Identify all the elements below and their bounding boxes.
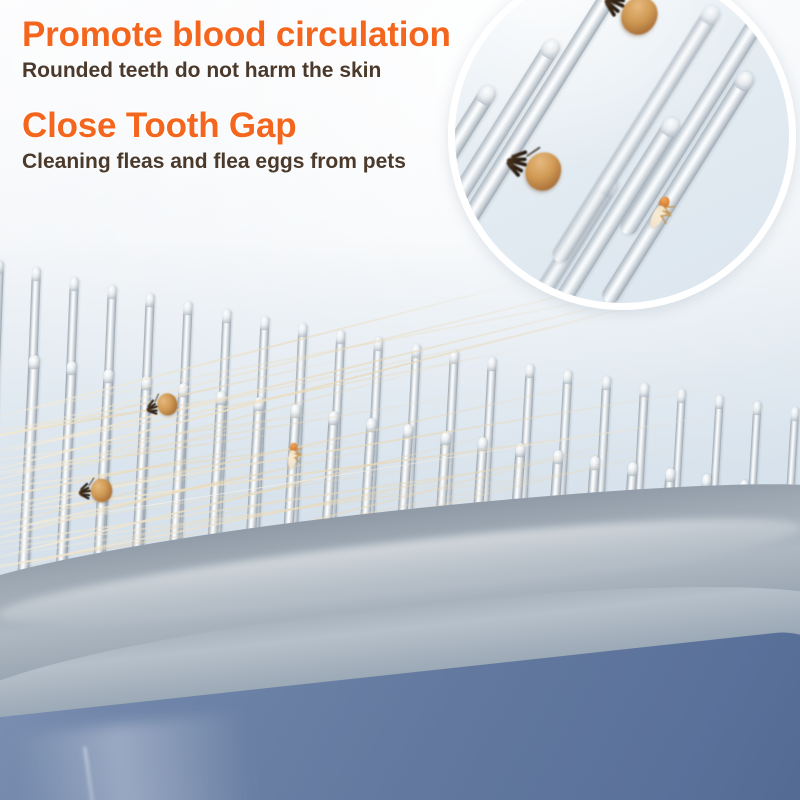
marketing-copy: Promote blood circulation Rounded teeth … [22,16,451,174]
subline-secondary: Cleaning fleas and flea eggs from pets [22,150,451,174]
subline-primary: Rounded teeth do not harm the skin [22,59,451,83]
hair-strand [0,403,381,463]
tick-legs [83,475,119,507]
hair-strand [0,464,242,537]
brush-body [0,560,800,800]
headline-primary: Promote blood circulation [22,16,451,54]
marketing-copy-block-2: Close Tooth Gap Cleaning fleas and flea … [22,107,451,174]
tick-bug [83,475,119,507]
tick-hair [154,393,159,402]
headline-secondary: Close Tooth Gap [22,107,451,145]
magnifier-inset-content [455,0,789,303]
hair-strand [0,343,547,452]
tick-hair [526,146,541,157]
product-image: Promote blood circulation Rounded teeth … [0,0,800,800]
tick-hair [88,477,95,486]
